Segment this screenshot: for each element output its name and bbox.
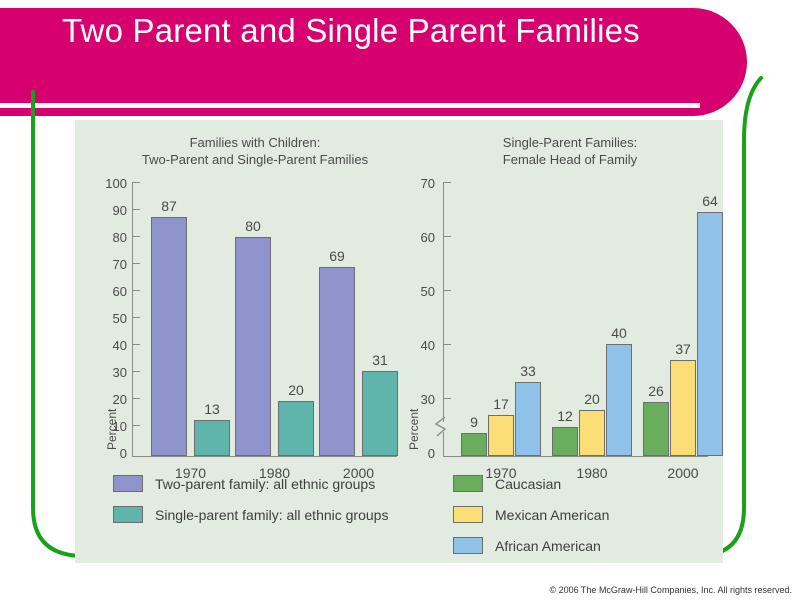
bar-value-right-1980-african-american: 40 xyxy=(606,325,632,341)
bar-right-1980-caucasian xyxy=(552,427,578,456)
bar-value-right-2000-african-american: 64 xyxy=(697,193,723,209)
legend-right-item-african-american[interactable]: African American xyxy=(453,537,601,554)
bar-left-2000-single-parent xyxy=(362,371,398,456)
chart-right-ytick-40: 40 xyxy=(405,338,435,353)
chart-right-xtick-1980: 1980 xyxy=(552,465,632,481)
bar-value-left-1980-two-parent: 80 xyxy=(235,218,271,234)
chart-right-axis-break-icon xyxy=(433,416,455,438)
chart-left-ytick-0: 0 xyxy=(93,446,127,461)
bar-value-right-1970-african-american: 33 xyxy=(515,363,541,379)
bar-value-left-1970-single-parent: 13 xyxy=(194,401,230,417)
chart-left-ytick-50: 50 xyxy=(93,311,127,326)
chart-right-ytick-60: 60 xyxy=(405,230,435,245)
legend-swatch-two-parent xyxy=(113,475,143,492)
bar-right-1970-mexican-american xyxy=(488,415,514,456)
title-underline-rule xyxy=(0,103,700,108)
chart-right-title-line2: Female Head of Family xyxy=(430,151,710,168)
chart-left-y-axis xyxy=(132,182,133,456)
bar-right-1970-african-american xyxy=(515,382,541,456)
legend-swatch-african-american xyxy=(453,537,483,554)
bar-left-1980-two-parent xyxy=(235,237,271,456)
chart-right-ylabel: Percent xyxy=(407,409,421,450)
legend-label-mexican-american: Mexican American xyxy=(495,507,609,523)
legend-label-african-american: African American xyxy=(495,538,601,554)
chart-right-x-axis xyxy=(443,456,708,457)
copyright-notice: © 2006 The McGraw-Hill Companies, Inc. A… xyxy=(549,585,792,595)
legend-right-item-mexican-american[interactable]: Mexican American xyxy=(453,506,609,523)
chart-right-ytick-70: 70 xyxy=(405,176,435,191)
chart-right-xtick-2000: 2000 xyxy=(643,465,723,481)
bar-right-2000-caucasian xyxy=(643,402,669,456)
chart-left-title-line1: Families with Children: xyxy=(115,134,395,151)
chart-left-ytick-30: 30 xyxy=(93,365,127,380)
chart-left-ytick-100: 100 xyxy=(93,176,127,191)
bar-value-right-1980-caucasian: 12 xyxy=(552,408,578,424)
chart-left-ytick-90: 90 xyxy=(93,203,127,218)
chart-right-y-axis-upper xyxy=(443,182,444,422)
bar-value-left-1970-two-parent: 87 xyxy=(151,198,187,214)
legend-left-item-single-parent[interactable]: Single-parent family: all ethnic groups xyxy=(113,506,388,523)
chart-left-ytick-80: 80 xyxy=(93,230,127,245)
chart-right-ytick-50: 50 xyxy=(405,284,435,299)
bar-value-left-2000-single-parent: 31 xyxy=(362,352,398,368)
legend-label-single-parent: Single-parent family: all ethnic groups xyxy=(155,507,388,523)
bar-value-right-1980-mexican-american: 20 xyxy=(579,391,605,407)
chart-left-ytick-20: 20 xyxy=(93,392,127,407)
bar-right-2000-mexican-american xyxy=(670,360,696,456)
legend-left-item-two-parent[interactable]: Two-parent family: all ethnic groups xyxy=(113,475,375,492)
legend-label-caucasian: Caucasian xyxy=(495,476,561,492)
page-title: Two Parent and Single Parent Families xyxy=(62,10,682,52)
bar-left-1970-single-parent xyxy=(194,420,230,456)
bar-value-right-2000-mexican-american: 37 xyxy=(670,341,696,357)
bar-value-right-2000-caucasian: 26 xyxy=(643,383,669,399)
chart-right-ytick-30: 30 xyxy=(405,392,435,407)
chart-left-x-axis xyxy=(132,456,397,457)
bar-right-1970-caucasian xyxy=(461,433,487,456)
chart-left-ytick-10: 10 xyxy=(93,419,127,434)
bar-right-1980-african-american xyxy=(606,344,632,456)
bar-value-right-1970-mexican-american: 17 xyxy=(488,396,514,412)
chart-right-title-line1: Single-Parent Families: xyxy=(430,134,710,151)
chart-left-title-line2: Two-Parent and Single-Parent Families xyxy=(115,151,395,168)
chart-left-ytick-40: 40 xyxy=(93,338,127,353)
chart-right-ytick-0: 0 xyxy=(405,446,435,461)
chart-left-ytick-70: 70 xyxy=(93,257,127,272)
chart-left-ytick-60: 60 xyxy=(93,284,127,299)
legend-swatch-caucasian xyxy=(453,475,483,492)
bar-left-1970-two-parent xyxy=(151,217,187,456)
legend-label-two-parent: Two-parent family: all ethnic groups xyxy=(155,476,375,492)
legend-swatch-single-parent xyxy=(113,506,143,523)
bar-value-right-1970-caucasian: 9 xyxy=(461,414,487,430)
bar-value-left-2000-two-parent: 69 xyxy=(319,248,355,264)
legend-right-item-caucasian[interactable]: Caucasian xyxy=(453,475,561,492)
bar-right-1980-mexican-american xyxy=(579,410,605,456)
chart-panel: Families with Children: Two-Parent and S… xyxy=(75,120,723,563)
bar-left-2000-two-parent xyxy=(319,267,355,456)
bar-left-1980-single-parent xyxy=(278,401,314,456)
bar-value-left-1980-single-parent: 20 xyxy=(278,382,314,398)
legend-swatch-mexican-american xyxy=(453,506,483,523)
bar-right-2000-african-american xyxy=(697,212,723,456)
